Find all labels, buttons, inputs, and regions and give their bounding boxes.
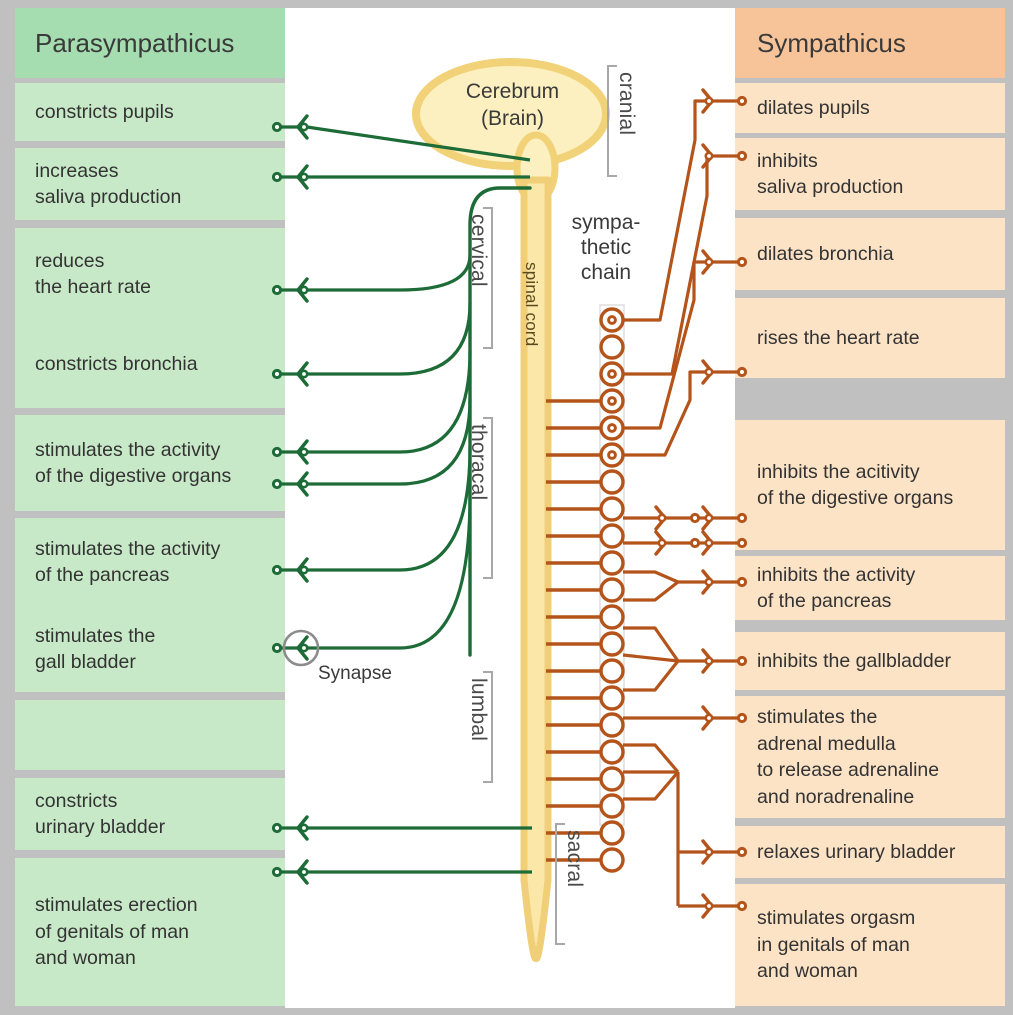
parasympathicus-title: Parasympathicus — [15, 8, 285, 78]
effect-row: stimulates the activity of the digestive… — [15, 415, 285, 511]
effect-row: inhibits the acitivity of the digestive … — [735, 420, 1005, 550]
effect-row: stimulates the adrenal medulla to releas… — [735, 696, 1005, 818]
effect-row: constricts pupils — [15, 83, 285, 141]
effect-label: stimulates the activity of the pancreas — [35, 536, 220, 589]
effect-row: dilates pupils — [735, 83, 1005, 133]
effect-row: constricts bronchia — [15, 320, 285, 408]
region-label-sacral: sacral — [562, 830, 586, 887]
diagram-root: Parasympathicus constricts pupilsincreas… — [0, 0, 1013, 1015]
effect-label: stimulates orgasm in genitals of man and… — [757, 905, 915, 985]
effect-label: dilates bronchia — [757, 241, 894, 268]
center-canvas — [285, 8, 735, 1008]
effect-label: reduces the heart rate — [35, 248, 151, 301]
effect-label: stimulates the activity of the digestive… — [35, 437, 231, 490]
brain-label: Cerebrum (Brain) — [430, 78, 595, 132]
region-label-thoracal: thoracal — [466, 424, 490, 500]
effect-label: inhibits the activity of the pancreas — [757, 562, 915, 615]
effect-label: dilates pupils — [757, 95, 870, 122]
region-label-lumbal: lumbal — [466, 678, 490, 741]
effect-label: stimulates the adrenal medulla to releas… — [757, 704, 939, 810]
effect-row — [15, 700, 285, 770]
effect-row: stimulates the activity of the pancreas — [15, 518, 285, 606]
region-label-cranial: cranial — [614, 72, 638, 135]
effect-row: increases saliva production — [15, 148, 285, 220]
effect-label: increases saliva production — [35, 158, 181, 211]
sympathicus-title: Sympathicus — [735, 8, 1005, 78]
sympathetic-chain-label: sympa- thetic chain — [563, 210, 649, 285]
effect-row: inhibits saliva production — [735, 138, 1005, 210]
synapse-label: Synapse — [318, 663, 392, 685]
effect-row: dilates bronchia — [735, 218, 1005, 290]
effect-label: stimulates the gall bladder — [35, 623, 155, 676]
effect-label: inhibits saliva production — [757, 148, 903, 201]
effect-row: stimulates erection of genitals of man a… — [15, 858, 285, 1006]
region-label-cervical: cervical — [466, 214, 490, 287]
effect-row: rises the heart rate — [735, 298, 1005, 378]
effect-label: constricts pupils — [35, 99, 174, 126]
effect-label: inhibits the acitivity of the digestive … — [757, 459, 953, 512]
effect-row: reduces the heart rate — [15, 228, 285, 320]
effect-label: constricts bronchia — [35, 351, 198, 378]
effect-row: stimulates the gall bladder — [15, 606, 285, 692]
effect-row: relaxes urinary bladder — [735, 826, 1005, 878]
effect-row: constricts urinary bladder — [15, 778, 285, 850]
effect-label: rises the heart rate — [757, 325, 920, 352]
effect-label: constricts urinary bladder — [35, 788, 165, 841]
spinal-cord-label: spinal cord — [521, 262, 541, 346]
effect-row: inhibits the gallbladder — [735, 632, 1005, 690]
effect-label: stimulates erection of genitals of man a… — [35, 892, 198, 972]
effect-label: inhibits the gallbladder — [757, 648, 951, 675]
effect-label: relaxes urinary bladder — [757, 839, 955, 866]
effect-row: stimulates orgasm in genitals of man and… — [735, 884, 1005, 1006]
effect-row: inhibits the activity of the pancreas — [735, 556, 1005, 620]
